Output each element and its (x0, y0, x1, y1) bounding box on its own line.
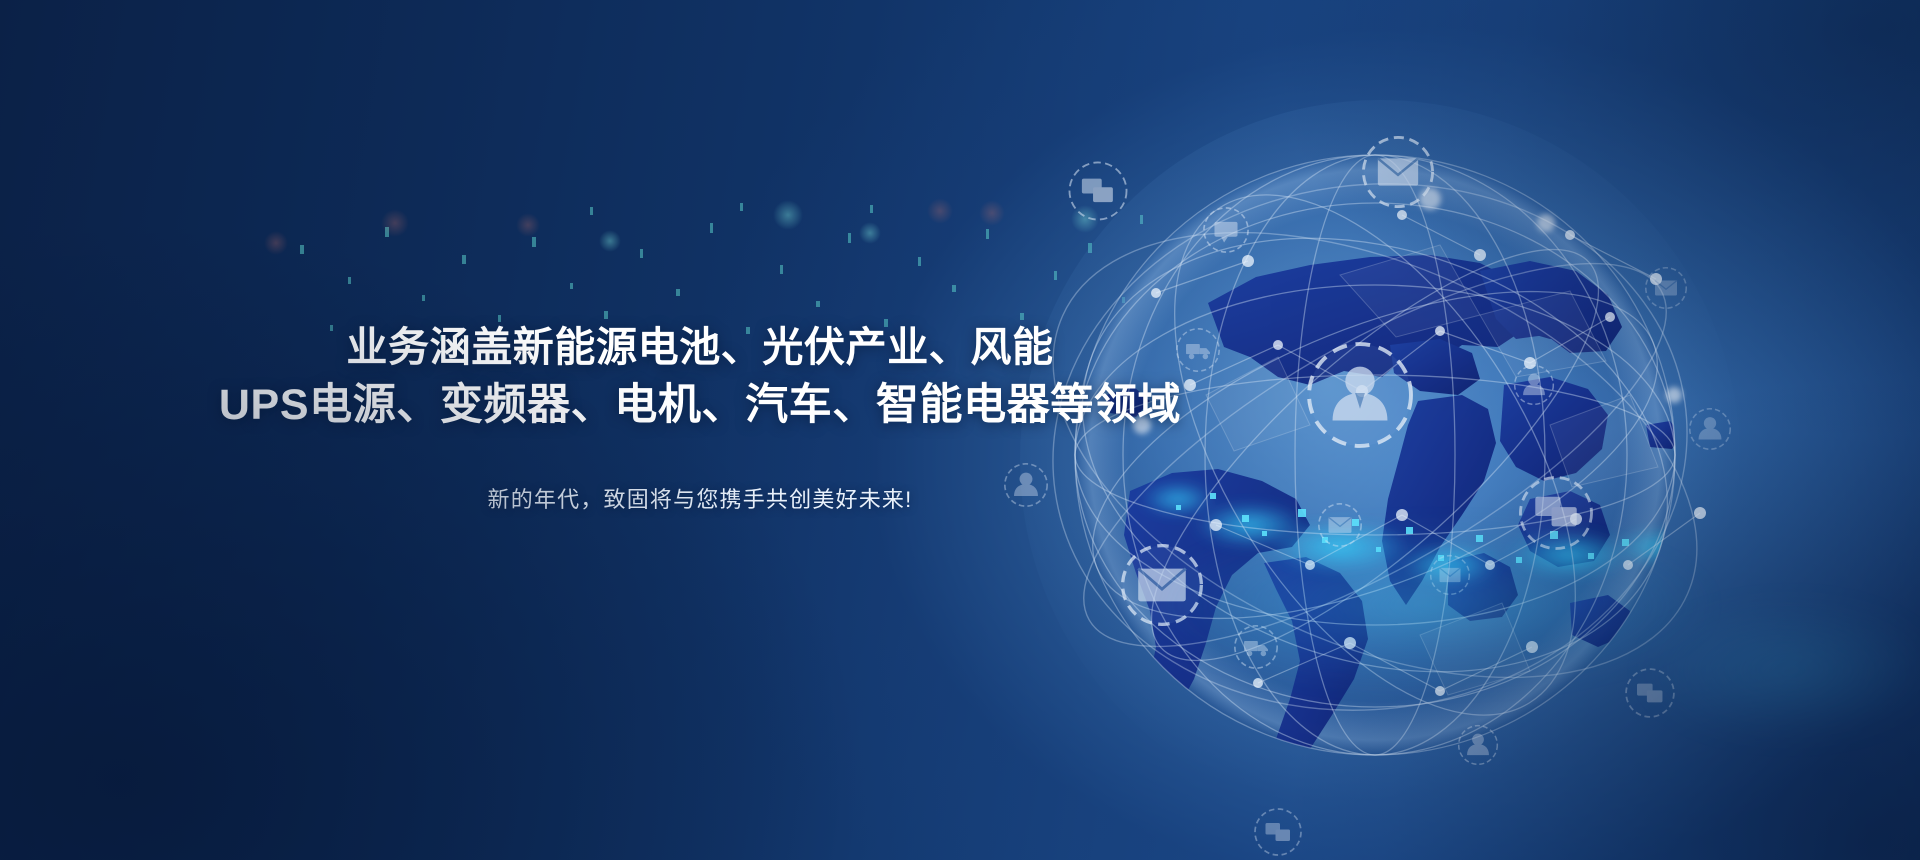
chat-bubbles-icon (1520, 477, 1591, 548)
headline-line-1: 业务涵盖新能源电池、光伏产业、风能 (0, 318, 1400, 376)
envelope-icon (1363, 137, 1432, 206)
envelope-icon (1123, 546, 1202, 625)
chat-bubbles-icon (1255, 809, 1301, 855)
hero-banner: 业务涵盖新能源电池、光伏产业、风能 UPS电源、变频器、电机、汽车、智能电器等领… (0, 0, 1920, 860)
chat-bubbles-icon (1626, 669, 1674, 717)
banner-headline: 业务涵盖新能源电池、光伏产业、风能 UPS电源、变频器、电机、汽车、智能电器等领… (0, 318, 1400, 434)
banner-subtitle: 新的年代，致固将与您携手共创美好未来! (0, 482, 1400, 514)
chat-bubbles-icon (1069, 162, 1126, 219)
network-globe-graphic (1010, 95, 1740, 825)
person-user-icon (1690, 409, 1730, 449)
headline-line-2: UPS电源、变频器、电机、汽车、智能电器等领域 (0, 376, 1400, 434)
